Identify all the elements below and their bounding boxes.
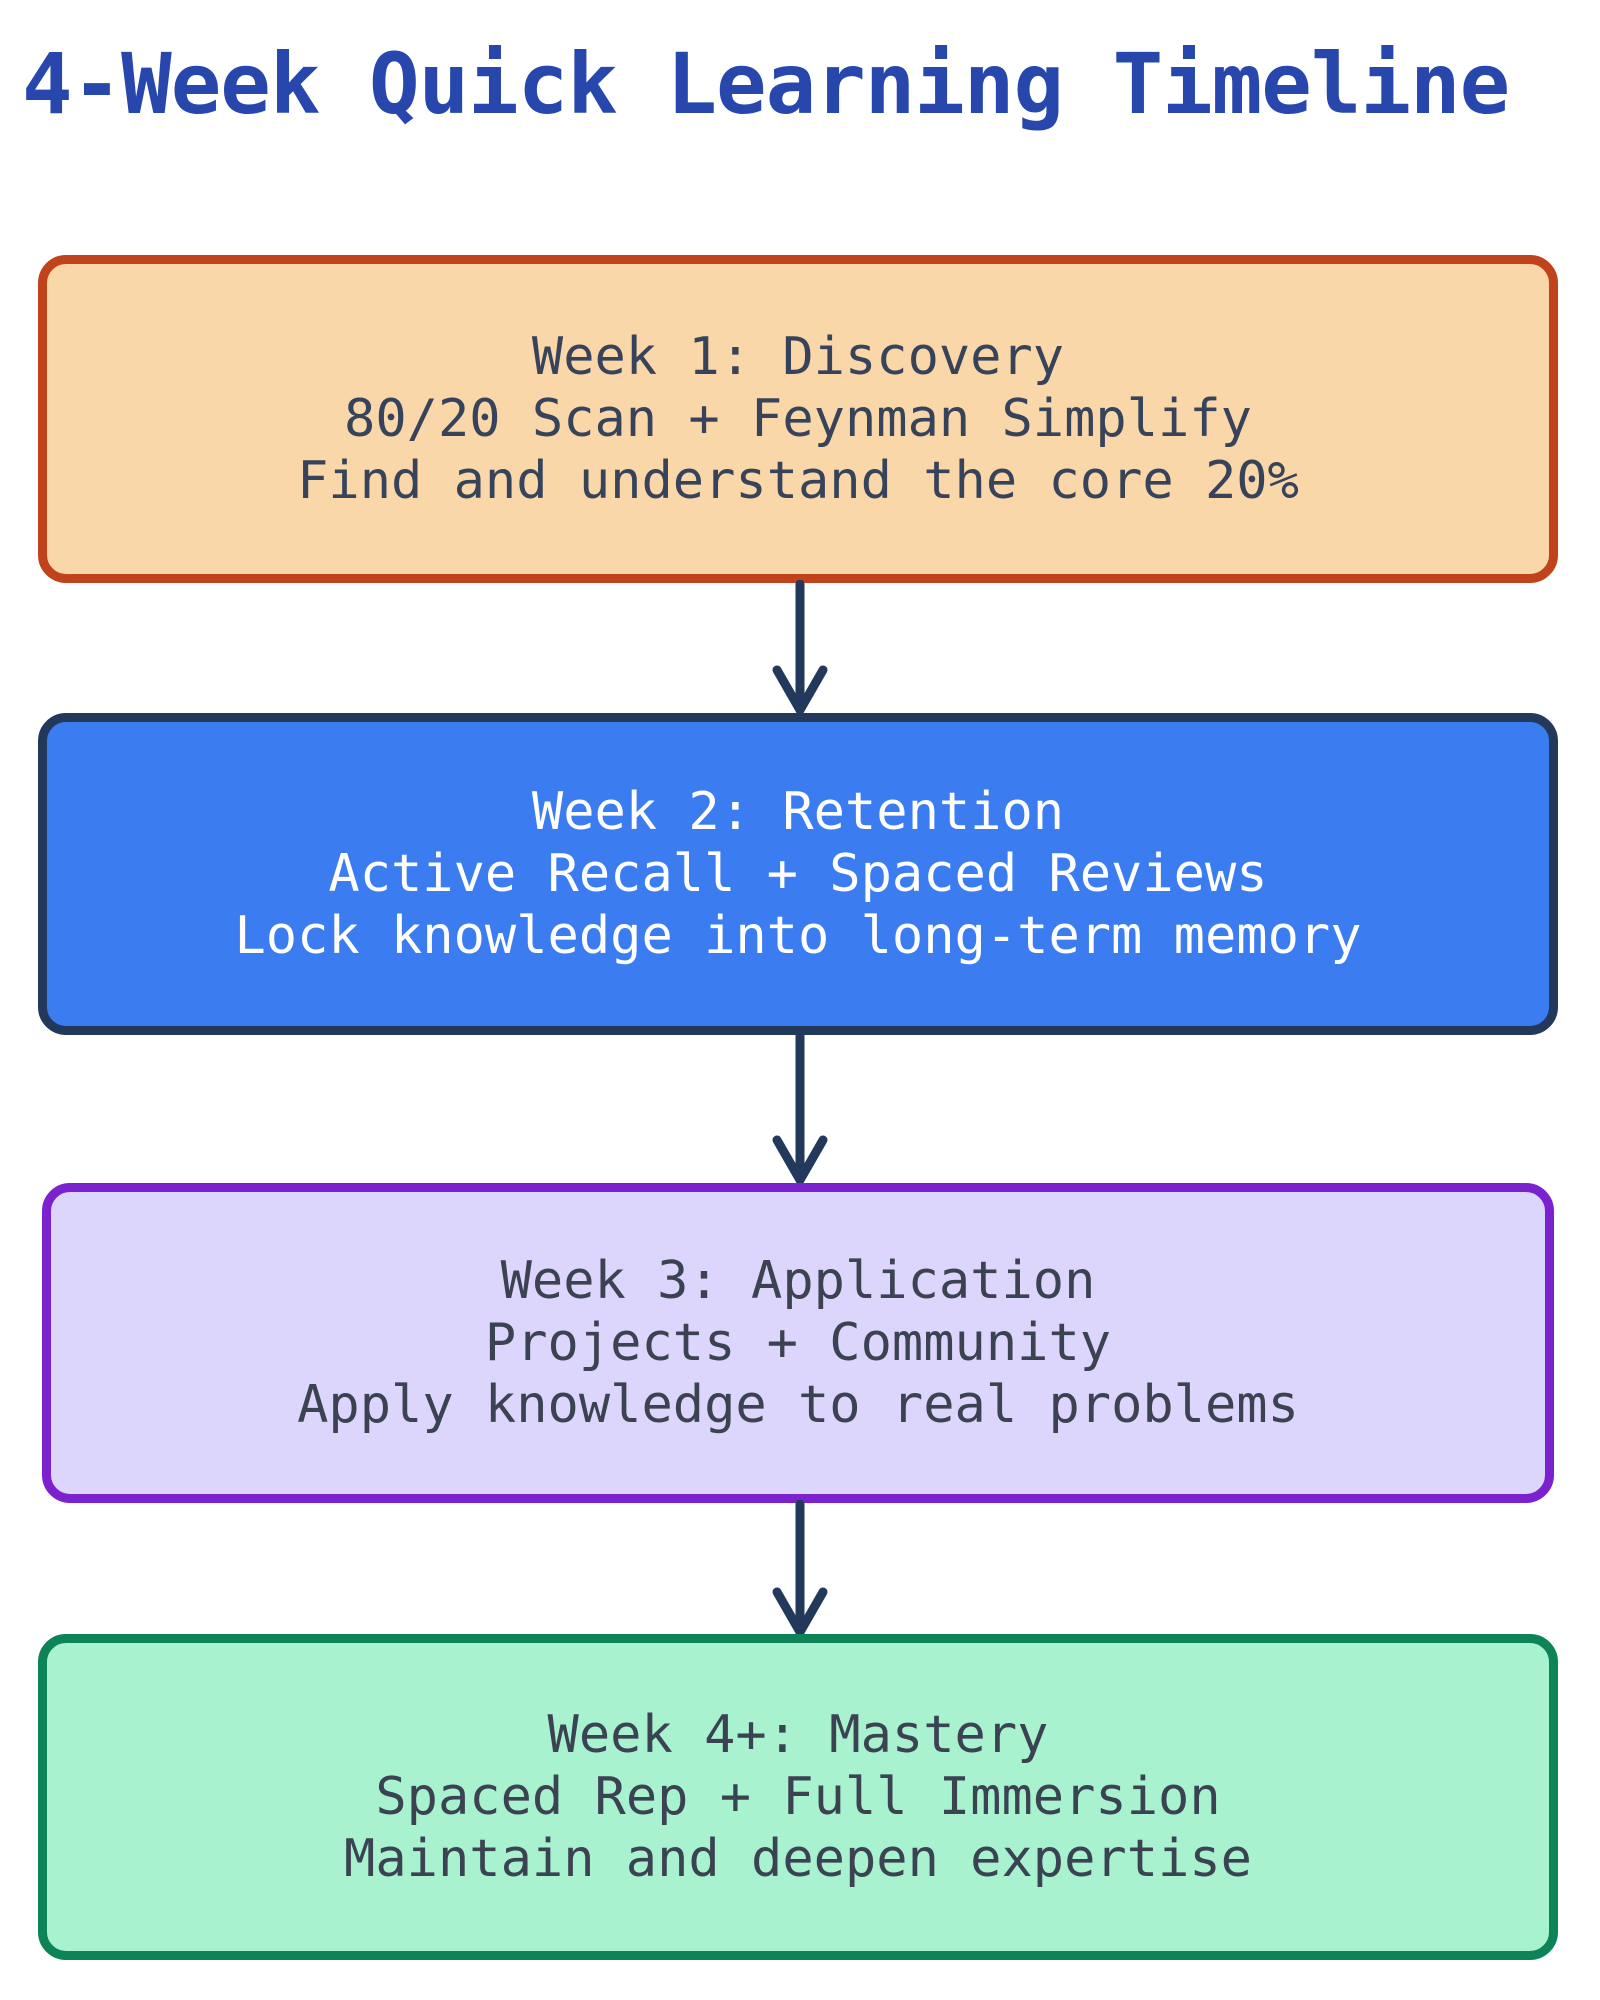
node-week-2-methods: Active Recall + Spaced Reviews xyxy=(47,843,1549,905)
node-week-4-mastery[interactable]: Week 4+: Mastery Spaced Rep + Full Immer… xyxy=(38,1634,1558,1960)
flowchart-canvas: 4-Week Quick Learning Timeline Week 1: D… xyxy=(0,0,1600,2000)
node-week-3-application[interactable]: Week 3: Application Projects + Community… xyxy=(42,1183,1554,1503)
node-week-1-discovery[interactable]: Week 1: Discovery 80/20 Scan + Feynman S… xyxy=(38,255,1558,583)
node-week-2-heading: Week 2: Retention xyxy=(47,781,1549,843)
node-week-4-methods: Spaced Rep + Full Immersion xyxy=(47,1766,1549,1828)
node-week-2-retention[interactable]: Week 2: Retention Active Recall + Spaced… xyxy=(38,713,1558,1035)
node-week-3-goal: Apply knowledge to real problems xyxy=(51,1374,1545,1436)
node-week-4-heading: Week 4+: Mastery xyxy=(47,1704,1549,1766)
arrow-down-icon-week1-to-week2 xyxy=(750,580,850,716)
node-week-3-methods: Projects + Community xyxy=(51,1312,1545,1374)
node-week-3-heading: Week 3: Application xyxy=(51,1250,1545,1312)
page-title: 4-Week Quick Learning Timeline xyxy=(22,24,1582,144)
node-week-1-goal: Find and understand the core 20% xyxy=(47,450,1549,512)
node-week-1-heading: Week 1: Discovery xyxy=(47,326,1549,388)
arrow-down-icon-week3-to-week4 xyxy=(750,1500,850,1638)
node-week-2-goal: Lock knowledge into long-term memory xyxy=(47,905,1549,967)
node-week-1-methods: 80/20 Scan + Feynman Simplify xyxy=(47,388,1549,450)
node-week-4-goal: Maintain and deepen expertise xyxy=(47,1828,1549,1890)
arrow-down-icon-week2-to-week3 xyxy=(750,1032,850,1186)
